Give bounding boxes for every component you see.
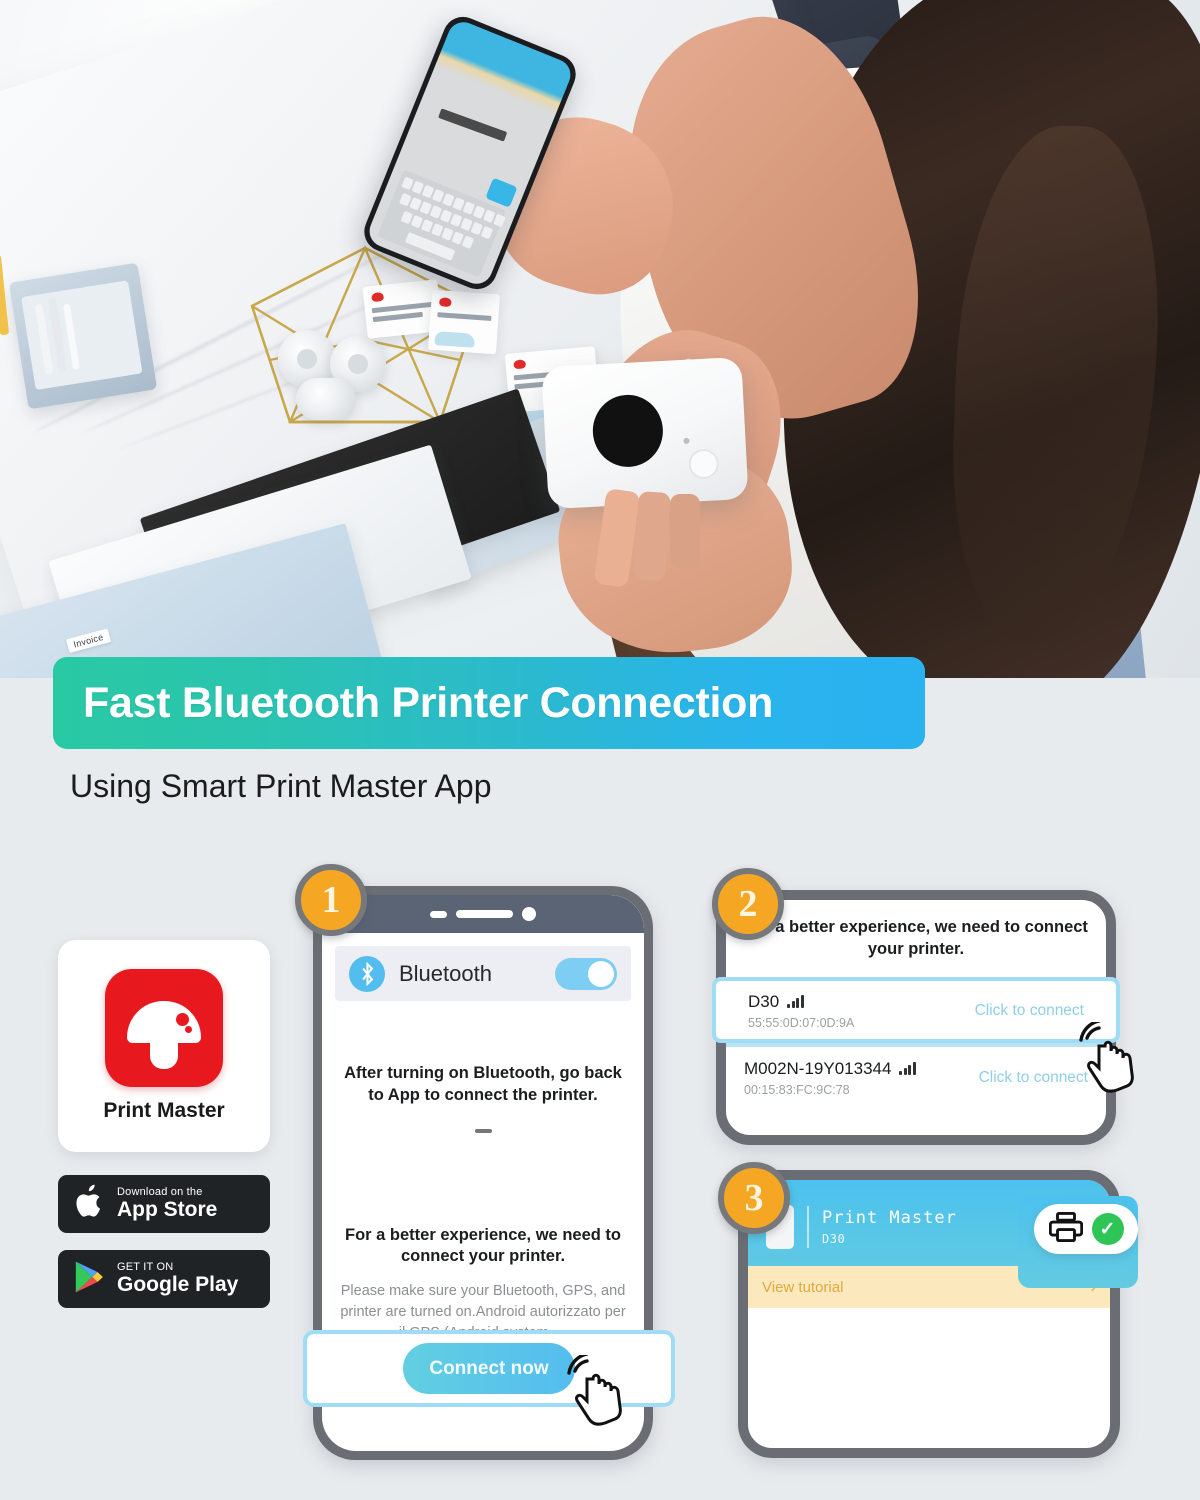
device-row[interactable]: M002N-19Y013344 00:15:83:FC:9C:78 Click …: [726, 1047, 1106, 1107]
tap-cursor-icon-step1: [565, 1355, 631, 1427]
step3-connected-card: View tutorial › Print Master D30: [738, 1170, 1120, 1458]
printer-texts: Print Master D30: [822, 1208, 957, 1246]
device-name-line: M002N-19Y013344: [744, 1059, 916, 1079]
signal-strength-icon: [787, 995, 804, 1008]
print-master-app-icon: [105, 969, 223, 1087]
box-text-line: [437, 312, 491, 321]
product-infographic-page: Schedule Invoice: [0, 0, 1200, 1500]
step2-device-list-card: For a better experience, we need to conn…: [716, 890, 1116, 1145]
app-store-badge[interactable]: Download on the App Store: [58, 1175, 270, 1233]
phone-notch-bar: [322, 895, 644, 933]
store-big-label: Google Play: [117, 1274, 238, 1296]
mushroom-stem-icon: [150, 1039, 178, 1069]
view-tutorial-label: View tutorial: [762, 1279, 843, 1296]
store-small-label: GET IT ON: [117, 1262, 238, 1274]
finger: [670, 494, 700, 568]
box-cloud-graphic: [434, 331, 475, 348]
device-info: D30 55:55:0D:07:0D:9A: [748, 992, 854, 1030]
device-mac-address: 00:15:83:FC:9C:78: [744, 1083, 916, 1097]
phone-speaker-icon: [456, 910, 513, 918]
subtitle-text: Using Smart Print Master App: [70, 768, 491, 805]
mushroom-cap-icon: [127, 1001, 201, 1043]
printer-name: Print Master: [822, 1208, 957, 1228]
tap-cursor-icon-step2: [1077, 1022, 1143, 1094]
folder-label: Invoice: [66, 628, 111, 653]
mushroom-dot: [185, 1026, 192, 1033]
device-info: M002N-19Y013344 00:15:83:FC:9C:78: [744, 1059, 916, 1097]
brand-logo-icon: [513, 359, 526, 369]
connect-link[interactable]: Click to connect: [979, 1069, 1088, 1087]
store-big-label: App Store: [117, 1199, 217, 1221]
hair-highlight: [947, 122, 1165, 649]
printer-paper-window: [591, 393, 665, 469]
device-list: D30 55:55:0D:07:0D:9A Click to connect M…: [726, 977, 1106, 1107]
device-row-selected[interactable]: D30 55:55:0D:07:0D:9A Click to connect: [712, 977, 1120, 1043]
step1-heading-2: For a better experience, we need to conn…: [338, 1225, 628, 1269]
phone-power-button: [648, 1004, 653, 1134]
phone-camera-icon: [522, 907, 536, 921]
google-play-badge[interactable]: GET IT ON Google Play: [58, 1250, 270, 1308]
printer-led-icon: [683, 438, 689, 444]
device-name: D30: [748, 992, 779, 1012]
bluetooth-icon: [349, 956, 385, 992]
connect-now-button[interactable]: Connect now: [403, 1343, 575, 1394]
bluetooth-label: Bluetooth: [399, 961, 492, 987]
thermal-label-printer: [541, 357, 748, 509]
bluetooth-settings-row[interactable]: Bluetooth: [335, 946, 631, 1001]
headline-banner: Fast Bluetooth Printer Connection: [53, 657, 925, 749]
apple-icon: [72, 1182, 106, 1227]
printer-icon: [1049, 1211, 1083, 1248]
mushroom-dot: [176, 1013, 189, 1026]
box-text-line: [373, 312, 423, 322]
phone-content: After turning on Bluetooth, go back to A…: [322, 1063, 644, 1344]
finger: [633, 491, 671, 581]
phone-sensor-icon: [430, 911, 447, 918]
hero-photo: Schedule Invoice: [0, 0, 1200, 678]
headline-title: Fast Bluetooth Printer Connection: [53, 679, 773, 728]
check-circle-icon: ✓: [1092, 1213, 1124, 1245]
printer-power-button: [688, 448, 720, 480]
desk-organizer: [9, 263, 157, 410]
divider-dash: [475, 1129, 492, 1133]
vertical-divider: [807, 1206, 809, 1248]
product-box: [428, 290, 500, 355]
printer-status-pill: ✓: [1034, 1204, 1138, 1254]
app-store-texts: Download on the App Store: [117, 1187, 217, 1222]
step-badge-1: 1: [295, 864, 367, 936]
brand-logo-icon: [439, 297, 452, 307]
brand-logo-icon: [371, 292, 384, 302]
google-play-icon: [72, 1259, 106, 1300]
app-name-label: Print Master: [103, 1099, 224, 1123]
roll-core: [348, 354, 368, 374]
app-card: Print Master: [58, 940, 270, 1152]
google-play-texts: GET IT ON Google Play: [117, 1262, 238, 1297]
box-text-line: [372, 302, 433, 313]
bluetooth-toggle[interactable]: [555, 958, 617, 990]
device-name-line: D30: [748, 992, 854, 1012]
step-badge-3: 3: [718, 1162, 790, 1234]
roll-core: [297, 349, 317, 369]
label-tape-roll: [296, 378, 356, 420]
printer-model: D30: [822, 1232, 957, 1246]
connect-link[interactable]: Click to connect: [975, 1002, 1084, 1020]
device-mac-address: 55:55:0D:07:0D:9A: [748, 1016, 854, 1030]
device-name: M002N-19Y013344: [744, 1059, 891, 1079]
phone-screen-text: [438, 108, 507, 141]
step1-heading-1: After turning on Bluetooth, go back to A…: [338, 1063, 628, 1107]
store-small-label: Download on the: [117, 1187, 217, 1199]
toggle-knob: [588, 961, 614, 987]
step-badge-2: 2: [712, 868, 784, 940]
phone-send-button-icon: [485, 178, 517, 208]
phone-volume-button: [313, 1004, 318, 1134]
signal-strength-icon: [899, 1062, 916, 1075]
